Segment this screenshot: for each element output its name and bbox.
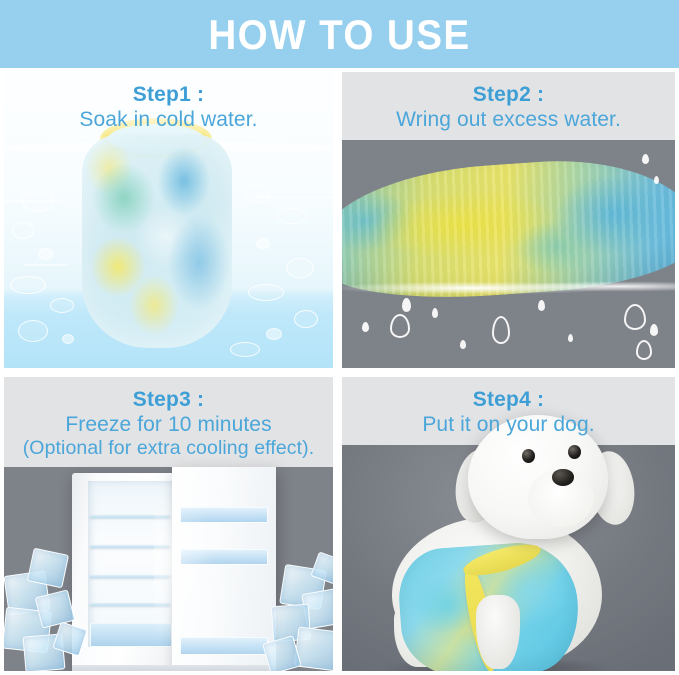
dog-front-leg xyxy=(476,595,520,669)
page-title: HOW TO USE xyxy=(208,14,470,56)
water-drop-icon xyxy=(460,340,466,349)
bubble-icon xyxy=(12,222,34,239)
step2-panel: Step2 : Wring out excess water. xyxy=(342,72,675,368)
header-banner: HOW TO USE xyxy=(0,0,679,68)
water-splash xyxy=(342,280,675,296)
cooling-vest-product xyxy=(82,134,232,348)
water-drop-icon xyxy=(538,300,545,311)
water-drop-icon xyxy=(402,298,411,312)
dog-eye-left xyxy=(522,449,535,463)
water-drop-icon xyxy=(642,154,649,164)
fridge-door-bin xyxy=(180,507,268,523)
step4-panel: Step4 : Put it on your dog. xyxy=(342,377,675,671)
refrigerator-base xyxy=(72,665,276,671)
water-drop-icon xyxy=(568,334,573,342)
step3-caption-backdrop xyxy=(4,377,333,467)
bubble-icon xyxy=(294,310,318,328)
bubble-icon xyxy=(256,238,270,249)
step1-panel: COOLING Step1 : Soak in cold water. xyxy=(4,72,333,368)
bubble-icon xyxy=(62,334,74,344)
fridge-crisper-drawer xyxy=(90,623,172,647)
water-drop-icon xyxy=(624,304,646,330)
dog-nose xyxy=(552,469,574,486)
bubble-icon xyxy=(244,184,270,203)
water-drop-icon xyxy=(492,316,510,344)
water-drop-icon xyxy=(362,322,369,332)
step2-caption-backdrop xyxy=(342,72,675,140)
water-drop-icon xyxy=(650,324,658,336)
water-streak xyxy=(254,196,333,198)
water-drop-icon xyxy=(654,176,659,184)
water-streak xyxy=(4,200,60,202)
fridge-shelf xyxy=(90,603,170,606)
bubble-icon xyxy=(10,276,46,294)
bubble-icon xyxy=(50,298,74,313)
fridge-door-bin xyxy=(180,637,268,655)
bubble-icon xyxy=(230,342,260,357)
fridge-shelf xyxy=(90,515,170,518)
dog-eye-right xyxy=(568,445,581,459)
step3-panel: Step3 : Freeze for 10 minutes (Optional … xyxy=(4,377,333,671)
how-to-use-infographic: HOW TO USE COOLING Step1 : Soak in cold … xyxy=(0,0,679,675)
fridge-shelf xyxy=(90,545,170,548)
bubble-icon xyxy=(266,328,282,340)
bubble-icon xyxy=(286,258,314,278)
bubble-icon xyxy=(18,320,48,342)
ice-cube-icon xyxy=(27,548,69,589)
fridge-shelf xyxy=(90,575,170,578)
bubble-icon xyxy=(38,248,53,260)
water-drop-icon xyxy=(390,314,410,338)
bubble-icon xyxy=(276,208,308,224)
water-drop-icon xyxy=(636,340,652,360)
water-streak xyxy=(24,264,68,266)
bubble-icon xyxy=(248,284,284,301)
water-drop-icon xyxy=(432,308,438,318)
fridge-door-bin xyxy=(180,549,268,565)
